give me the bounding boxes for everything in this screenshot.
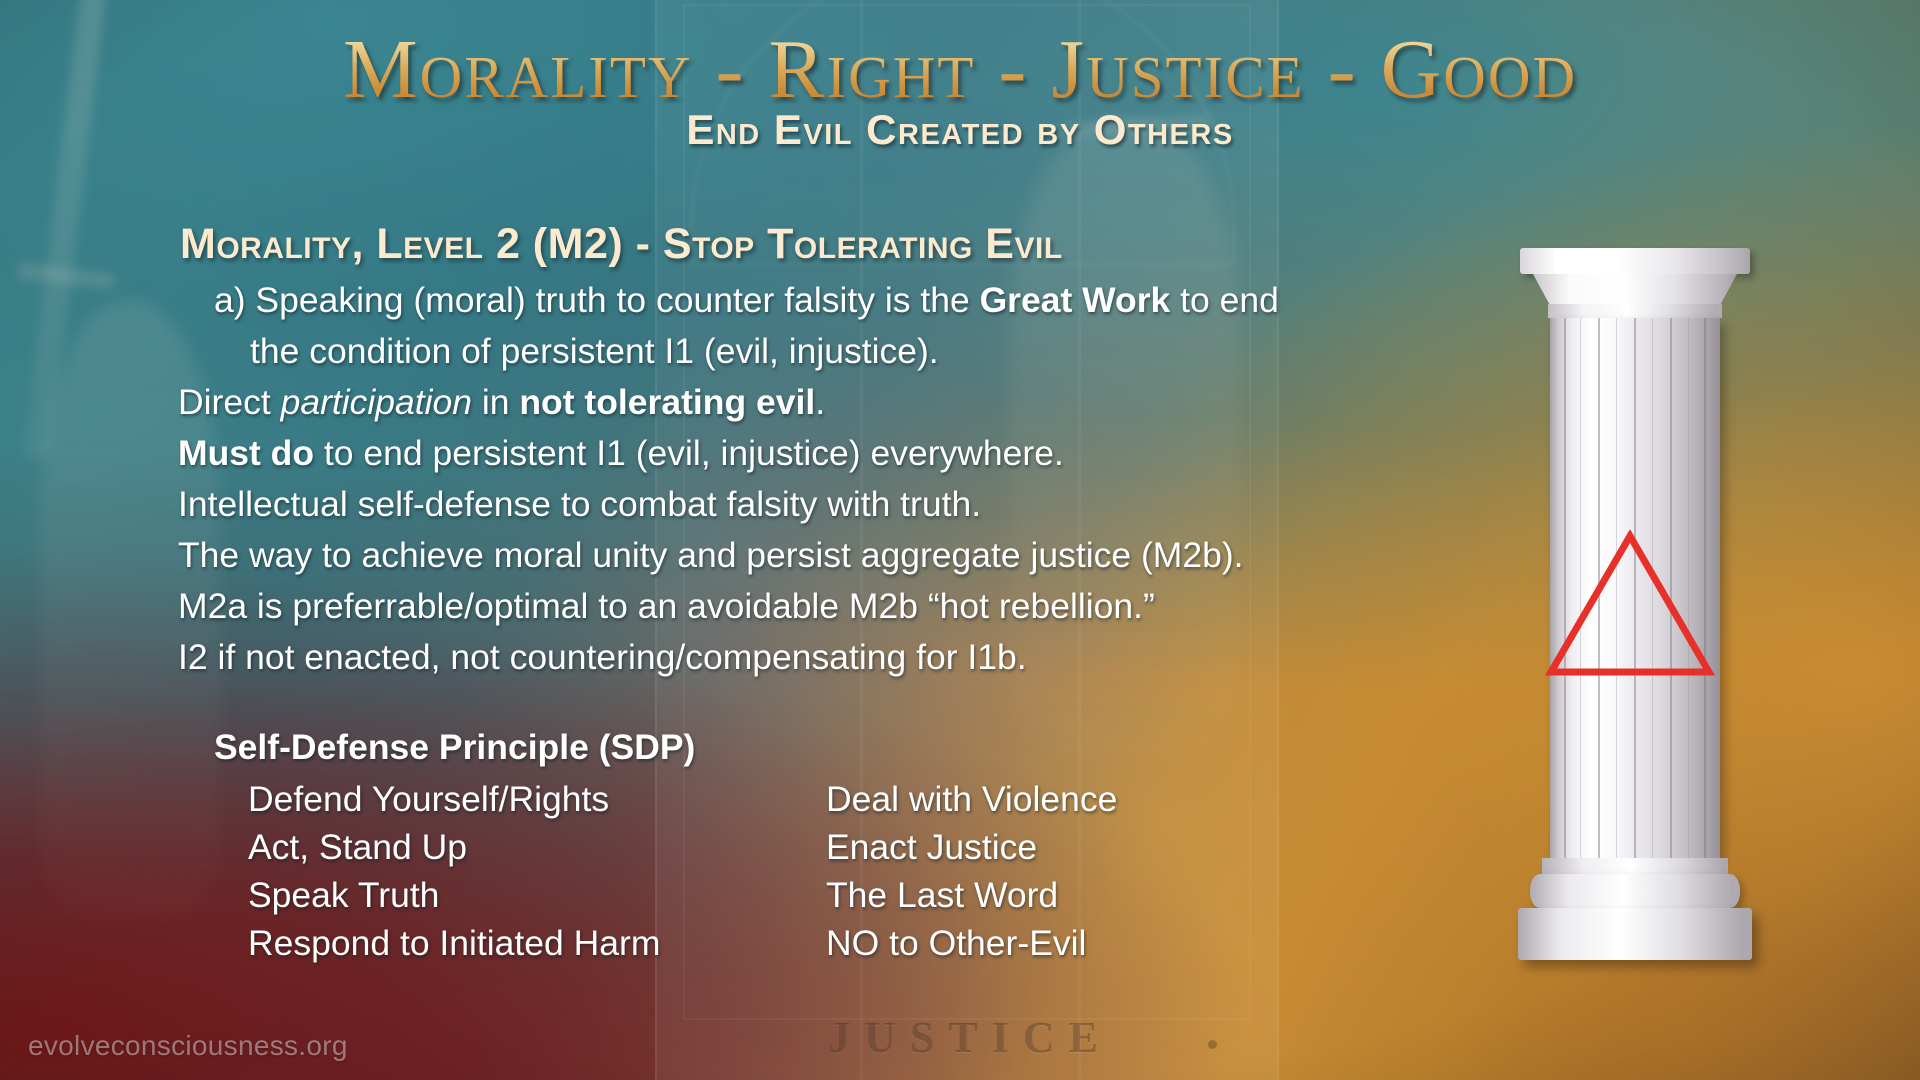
sdp-row-2-right: The Last Word — [826, 871, 1058, 919]
body-line-4-rest: to end persistent I1 (evil, injustice) e… — [314, 433, 1064, 473]
body-line-3: Direct participation in not tolerating e… — [178, 377, 1534, 428]
body-line-3-italic: participation — [281, 382, 472, 422]
sdp-heading: Self-Defense Principle (SDP) — [214, 727, 695, 768]
pillar-base-plinth — [1518, 908, 1752, 960]
body-line-1-part-c: to end — [1170, 280, 1279, 320]
pillar-capital-echinus — [1533, 274, 1737, 304]
list-item: Speak Truth The Last Word — [248, 871, 1308, 919]
pillar-shaft — [1550, 318, 1720, 858]
sdp-row-2-left: Speak Truth — [248, 871, 826, 919]
pillar-flute — [1616, 318, 1617, 858]
classical-pillar-graphic — [1520, 248, 1750, 958]
pillar-flute — [1580, 318, 1581, 858]
section-heading: Morality, Level 2 (M2) - Stop Tolerating… — [180, 222, 1063, 267]
body-line-3-part-e: . — [815, 382, 825, 422]
body-line-3-part-a: Direct — [178, 382, 281, 422]
body-line-2: the condition of persistent I1 (evil, in… — [214, 326, 1534, 377]
pillar-flute — [1598, 318, 1600, 858]
body-line-1-bold: Great Work — [980, 280, 1171, 320]
pillar-flute — [1670, 318, 1672, 858]
sdp-row-1-right: Enact Justice — [826, 823, 1037, 871]
body-text-block: a) Speaking (moral) truth to counter fal… — [214, 275, 1534, 683]
sdp-row-1-left: Act, Stand Up — [248, 823, 826, 871]
site-watermark: evolveconsciousness.org — [28, 1030, 348, 1062]
body-line-4: Must do to end persistent I1 (evil, inju… — [178, 428, 1534, 479]
body-line-1: a) Speaking (moral) truth to counter fal… — [214, 275, 1534, 326]
pillar-capital-abacus — [1520, 248, 1750, 274]
list-item: Defend Yourself/Rights Deal with Violenc… — [248, 775, 1308, 823]
pillar-base-fillet — [1542, 858, 1728, 874]
pillar-base-torus — [1530, 874, 1740, 908]
pillar-flute — [1704, 318, 1706, 858]
pillar-neck — [1548, 304, 1722, 318]
page-subtitle: End Evil Created by Others — [0, 108, 1920, 152]
sdp-row-3-right: NO to Other-Evil — [826, 919, 1086, 967]
body-line-7: M2a is preferrable/optimal to an avoidab… — [178, 581, 1534, 632]
pillar-flute — [1564, 318, 1566, 858]
body-line-5: Intellectual self-defense to combat fals… — [178, 479, 1534, 530]
sdp-row-3-left: Respond to Initiated Harm — [248, 919, 826, 967]
sdp-row-0-left: Defend Yourself/Rights — [248, 775, 826, 823]
body-line-3-part-c: in — [472, 382, 519, 422]
pillar-flute — [1688, 318, 1689, 858]
body-line-1-part-a: a) Speaking (moral) truth to counter fal… — [214, 280, 980, 320]
body-line-8: I2 if not enacted, not countering/compen… — [178, 632, 1534, 683]
pillar-flute — [1634, 318, 1636, 858]
slide-canvas: JUSTICE Morality - Right - Justice - Goo… — [0, 0, 1920, 1080]
sdp-list: Defend Yourself/Rights Deal with Violenc… — [248, 775, 1308, 967]
list-item: Act, Stand Up Enact Justice — [248, 823, 1308, 871]
list-item: Respond to Initiated Harm NO to Other-Ev… — [248, 919, 1308, 967]
body-line-6: The way to achieve moral unity and persi… — [178, 530, 1534, 581]
page-title: Morality - Right - Justice - Good — [0, 28, 1920, 112]
body-line-3-bold: not tolerating evil — [519, 382, 815, 422]
pillar-flute — [1652, 318, 1653, 858]
body-line-4-bold: Must do — [178, 433, 314, 473]
sdp-row-0-right: Deal with Violence — [826, 775, 1117, 823]
